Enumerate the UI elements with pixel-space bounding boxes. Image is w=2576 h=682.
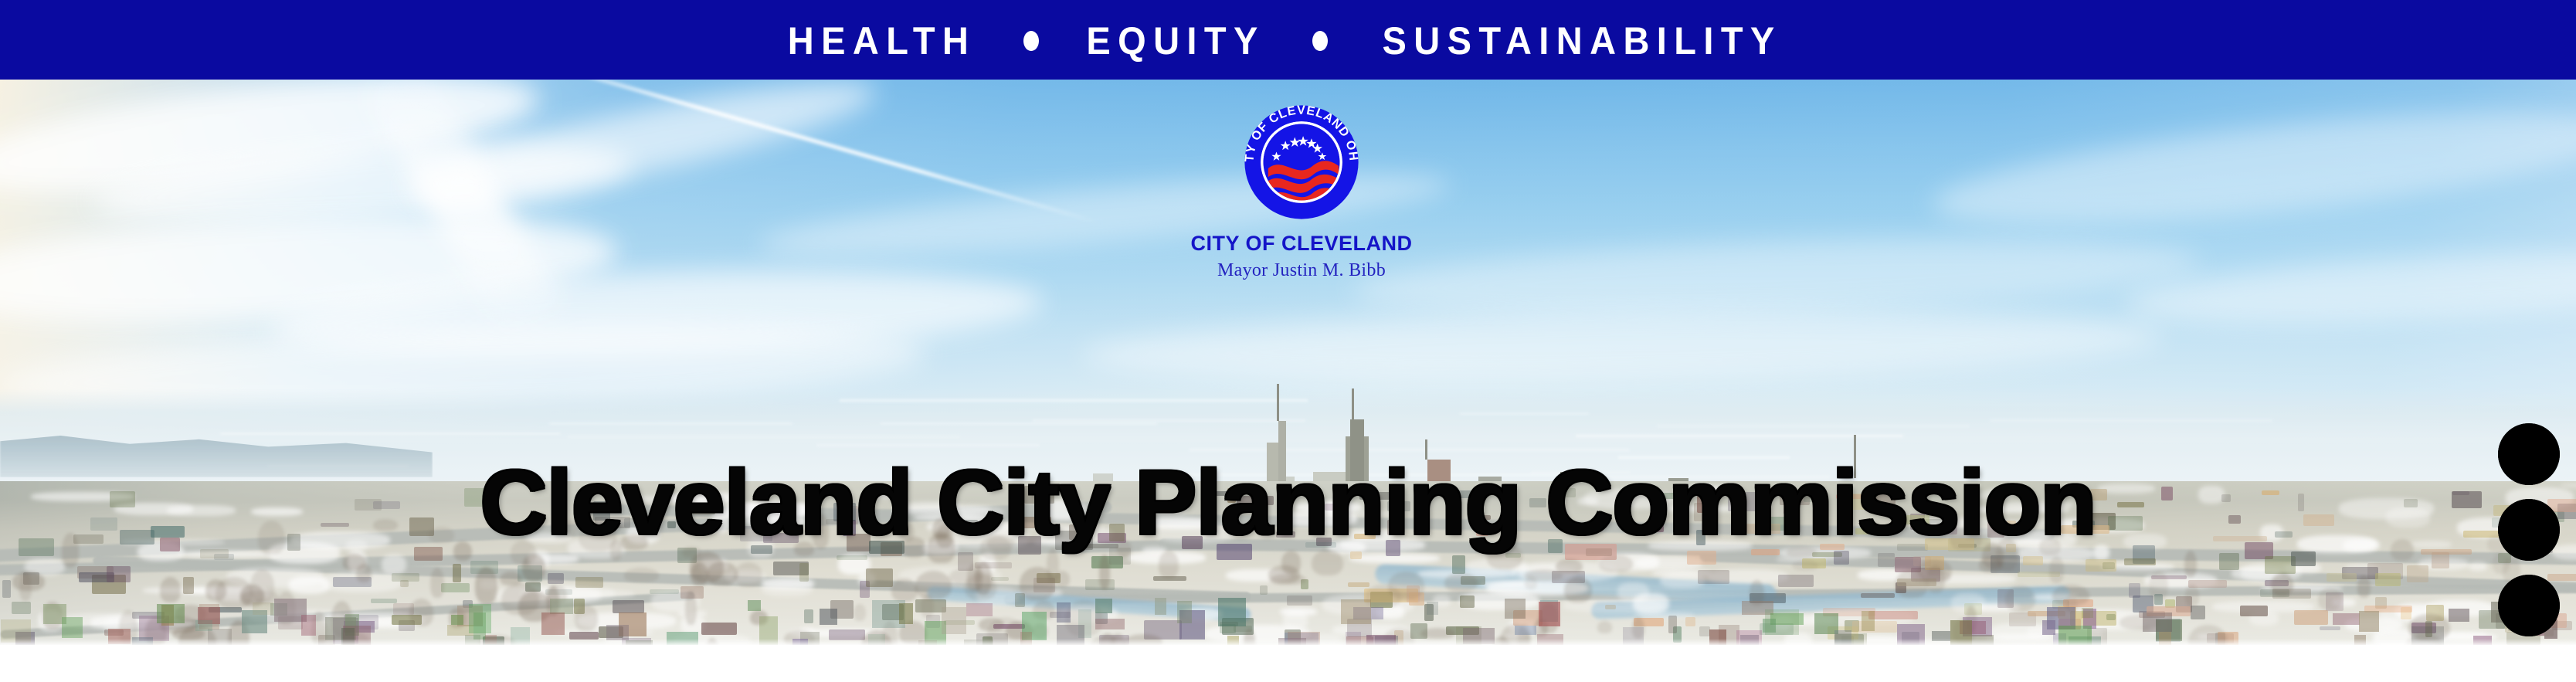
snow-patch: [382, 555, 406, 575]
city-block: [2240, 606, 2268, 616]
house: [469, 604, 492, 633]
city-block: [1685, 617, 1695, 626]
house: [2143, 612, 2172, 632]
tagline-inner: HEALTH EQUITY SUSTAINABILITY: [782, 22, 1794, 60]
house: [451, 615, 463, 625]
city-block: [1460, 595, 1475, 608]
city-block: [613, 600, 644, 613]
tree-cluster: [501, 583, 539, 615]
tree-cluster: [160, 577, 181, 602]
spire: [1352, 389, 1354, 419]
house: [541, 612, 565, 635]
city-block: [2086, 559, 2116, 572]
house: [1095, 599, 1112, 613]
tree-cluster: [2318, 588, 2342, 610]
house: [1155, 598, 1167, 616]
house: [1862, 611, 1875, 631]
tree-cluster: [575, 605, 599, 631]
city-block: [1287, 595, 1312, 606]
city-block: [1698, 570, 1729, 584]
house: [748, 600, 761, 611]
city-block: [2191, 606, 2204, 619]
house: [606, 625, 629, 640]
city-block: [2, 580, 11, 598]
snow-patch: [1617, 582, 1649, 602]
tree-cluster: [624, 568, 658, 582]
tree-cluster: [1525, 569, 1563, 581]
tree-cluster: [2149, 571, 2168, 600]
city-block: [2124, 558, 2156, 566]
page-title: Cleveland City Planning Commission: [0, 457, 2576, 548]
instagram-icon[interactable]: [2498, 499, 2560, 561]
house: [62, 617, 83, 638]
facebook-icon[interactable]: [2498, 575, 2560, 636]
house: [820, 609, 837, 625]
house: [966, 603, 993, 616]
tree-cluster: [430, 568, 444, 597]
tagline-word-sustainability: SUSTAINABILITY: [1383, 22, 1782, 60]
city-block: [2291, 551, 2315, 566]
dot-separator-icon: [1312, 31, 1328, 51]
lockup-title: CITY OF CLEVELAND: [1155, 233, 1448, 254]
city-block: [453, 564, 461, 582]
tree-cluster: [1979, 556, 2003, 572]
city-block: [107, 566, 130, 582]
tree-cluster: [1597, 621, 1612, 633]
city-block: [2023, 556, 2043, 565]
dot-separator-icon: [1023, 31, 1039, 51]
tree-cluster: [2357, 575, 2371, 598]
youtube-icon[interactable]: [2498, 423, 2560, 485]
city-block: [2320, 626, 2340, 630]
tree-cluster: [1159, 551, 1179, 578]
city-of-cleveland-seal-icon: CITY OF CLEVELAND OHIO: [1240, 100, 1363, 224]
tree-cluster: [522, 554, 546, 582]
house: [1095, 619, 1125, 629]
city-block: [414, 547, 443, 560]
house: [899, 603, 912, 624]
snow-patch: [762, 581, 813, 596]
tree-cluster: [1564, 577, 1592, 602]
tree-cluster: [250, 569, 274, 602]
tree-cluster: [1556, 559, 1583, 572]
house: [1057, 602, 1071, 622]
city-block: [1878, 553, 1895, 567]
social-links: [2498, 423, 2560, 636]
tree-cluster: [356, 564, 372, 582]
city-block: [866, 568, 894, 587]
house: [253, 602, 273, 615]
photo-bottom-edge: [0, 639, 2576, 645]
tree-cluster: [2052, 585, 2089, 606]
tree-cluster: [1599, 555, 1633, 573]
house: [1218, 598, 1246, 626]
tree-cluster: [1911, 568, 1950, 583]
tree-cluster: [1281, 551, 1301, 574]
tree-cluster: [854, 604, 865, 622]
house: [1341, 599, 1371, 624]
city-block: [2294, 610, 2328, 626]
snow-patch: [2469, 562, 2487, 571]
tree-cluster: [735, 562, 762, 587]
spire: [1277, 384, 1279, 421]
tree-cluster: [1444, 573, 1478, 592]
house: [1427, 602, 1438, 615]
tree-cluster: [975, 562, 992, 594]
city-block: [1260, 585, 1268, 595]
tree-cluster: [891, 579, 917, 602]
tree-cluster: [409, 599, 434, 626]
city-branding-lockup: CITY OF CLEVELAND OHIO: [1155, 100, 1448, 280]
house: [942, 607, 966, 633]
snow-patch: [1280, 608, 1318, 616]
city-block: [183, 577, 194, 594]
house: [2359, 611, 2379, 632]
city-block: [2129, 583, 2140, 598]
city-block: [1699, 626, 1710, 636]
city-block: [2327, 573, 2357, 582]
city-block: [2407, 565, 2428, 582]
tree-cluster: [979, 618, 1005, 632]
city-block: [200, 549, 229, 558]
city-block: [2219, 553, 2239, 570]
house: [1177, 601, 1192, 623]
city-block: [701, 623, 737, 635]
house: [195, 620, 212, 632]
tree-cluster: [915, 571, 952, 599]
city-block: [1778, 575, 1814, 587]
city-block: [837, 555, 867, 560]
tree-cluster: [685, 591, 697, 625]
city-block: [2421, 549, 2472, 555]
city-block: [575, 577, 603, 588]
tagline-word-equity: EQUITY: [1086, 22, 1264, 60]
tagline-word-health: HEALTH: [788, 22, 976, 60]
city-block: [441, 583, 470, 592]
city-block: [12, 602, 31, 613]
page-root: HEALTH EQUITY SUSTAINABILITY: [0, 0, 2576, 682]
house: [2042, 620, 2055, 635]
tree-cluster: [2005, 585, 2035, 612]
tree-cluster: [1020, 567, 1056, 600]
house: [2082, 608, 2093, 618]
tree-cluster: [1792, 560, 1818, 571]
tree-cluster: [19, 572, 32, 601]
tree-cluster: [205, 579, 226, 601]
tree-cluster: [2271, 573, 2293, 595]
house: [1539, 602, 1560, 626]
city-block: [650, 589, 679, 594]
tree-cluster: [2185, 585, 2199, 606]
house: [1765, 609, 1798, 636]
lockup-subtitle: Mayor Justin M. Bibb: [1155, 261, 1448, 280]
city-block: [1868, 611, 1918, 619]
tagline-banner: HEALTH EQUITY SUSTAINABILITY: [0, 0, 2576, 80]
house: [1505, 599, 1526, 619]
tree-cluster: [1420, 628, 1455, 640]
house: [550, 599, 573, 614]
city-block: [804, 609, 813, 623]
tree-cluster: [2184, 551, 2197, 577]
city-block: [371, 599, 397, 603]
city-block: [2375, 573, 2401, 586]
house: [1515, 626, 1536, 635]
house: [157, 604, 184, 623]
house: [2333, 613, 2359, 625]
city-block: [548, 573, 564, 584]
city-block: [1861, 593, 1896, 598]
city-block: [1452, 555, 1465, 574]
tree-cluster: [921, 595, 933, 618]
city-block: [1605, 605, 1616, 609]
tree-cluster: [475, 567, 497, 604]
city-block: [392, 573, 419, 582]
house: [301, 615, 316, 636]
city-block: [1668, 616, 1677, 633]
city-block: [799, 563, 808, 582]
house: [2449, 609, 2469, 623]
city-block: [1348, 582, 1369, 588]
tree-cluster: [2049, 556, 2064, 583]
tree-cluster: [707, 562, 738, 585]
